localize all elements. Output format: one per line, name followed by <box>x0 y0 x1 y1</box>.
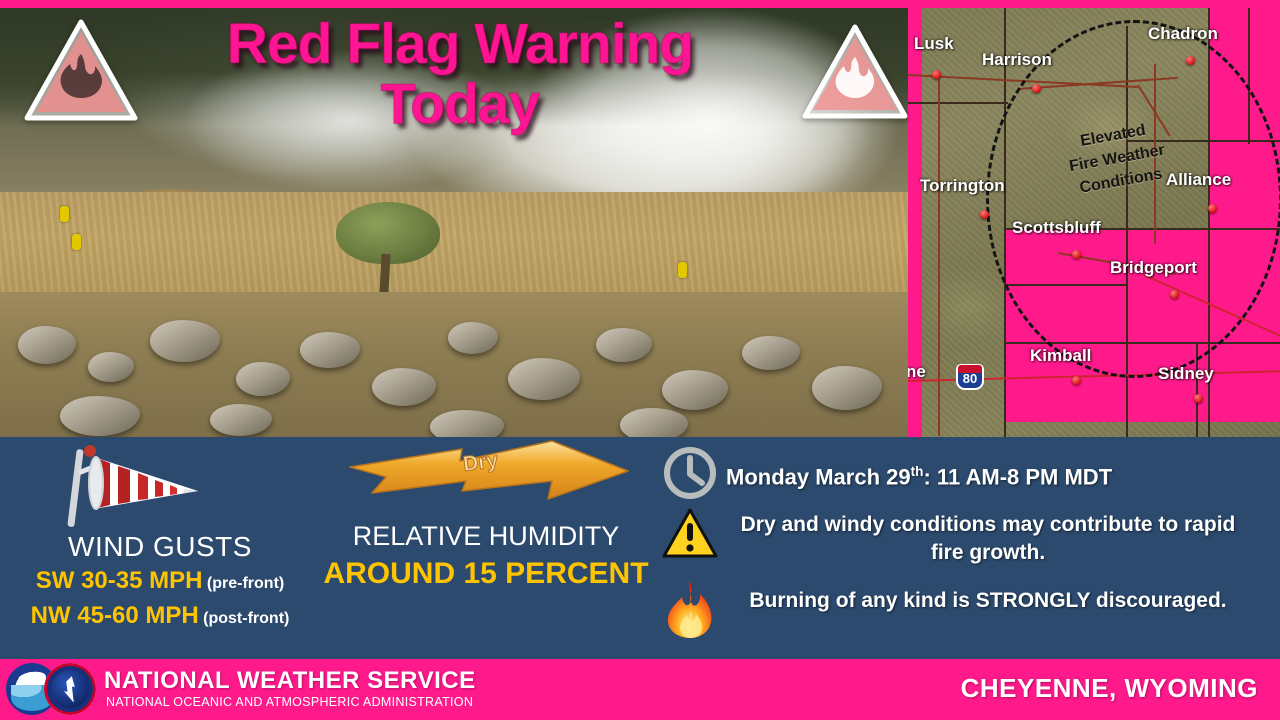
city-label-lusk: Lusk <box>914 34 954 54</box>
timing-message-row: Monday March 29th: 11 AM-8 PM MDT <box>654 445 1280 501</box>
relative-humidity-section: Dry RELATIVE HUMIDITY AROUND 15 PERCENT <box>318 437 654 659</box>
city-marker <box>1208 204 1217 213</box>
timing-message-text: Monday March 29th: 11 AM-8 PM MDT <box>726 445 1112 492</box>
wind-prefront-note: (pre-front) <box>207 575 284 592</box>
city-marker <box>932 70 941 79</box>
infographic-canvas: Red Flag Warning Today Elevate <box>0 0 1280 720</box>
dry-arrow-icon: Dry <box>342 437 632 505</box>
wind-line-prefront: SW 30-35 MPH (pre-front) <box>0 567 320 595</box>
clock-icon <box>654 445 726 501</box>
fire-hazard-triangle-icon <box>800 22 910 122</box>
wind-postfront-value: NW 45-60 MPH <box>31 602 199 629</box>
windsock-icon <box>48 443 248 529</box>
conditions-panel: WIND GUSTS SW 30-35 MPH (pre-front) NW 4… <box>0 437 1280 659</box>
photo-firefighter <box>678 262 687 278</box>
warning-triangle-icon <box>654 507 726 559</box>
page-title: Red Flag Warning Today <box>150 14 770 134</box>
office-name: CHEYENNE, WYOMING <box>961 673 1258 704</box>
city-label-chadron: Chadron <box>1148 24 1218 44</box>
city-label-torrington: Torrington <box>920 176 1005 196</box>
city-label-bridgeport: Bridgeport <box>1110 258 1197 278</box>
city-marker <box>1072 250 1081 259</box>
footer-bar: NOAA NATIONAL WEATHER SERVICE NATIONAL O… <box>0 659 1280 720</box>
warning-area-map[interactable]: Elevated Fire Weather Conditions Lusk Ha… <box>908 6 1280 437</box>
top-accent-strip <box>0 0 1280 8</box>
nws-logo-icon <box>44 663 96 715</box>
city-label-sidney: Sidney <box>1158 364 1214 384</box>
flame-icon <box>654 579 726 639</box>
dry-arrow-label: Dry <box>462 449 500 476</box>
photo-firefighter <box>60 206 69 222</box>
wind-line-postfront: NW 45-60 MPH (post-front) <box>0 602 320 630</box>
city-marker <box>1186 56 1195 65</box>
city-marker <box>1170 290 1179 299</box>
photo-rock-field <box>0 292 908 438</box>
relative-humidity-title: RELATIVE HUMIDITY <box>318 521 654 552</box>
interstate-80-shield-icon: 80 <box>956 364 984 390</box>
city-marker <box>1194 394 1203 403</box>
agency-subtitle: NATIONAL OCEANIC AND ATMOSPHERIC ADMINIS… <box>106 695 473 709</box>
city-label-harrison: Harrison <box>982 50 1052 70</box>
fire-hazard-triangle-icon <box>22 16 140 124</box>
title-line-1: Red Flag Warning <box>150 14 770 74</box>
city-marker <box>980 210 989 219</box>
fire-growth-message-row: Dry and windy conditions may contribute … <box>654 507 1280 567</box>
title-line-2: Today <box>150 74 770 134</box>
agency-name: NATIONAL WEATHER SERVICE <box>104 667 476 695</box>
burning-message-text: Burning of any kind is STRONGLY discoura… <box>726 579 1250 615</box>
timing-post: : 11 AM-8 PM MDT <box>923 464 1112 489</box>
photo-firefighter <box>72 234 81 250</box>
wind-prefront-value: SW 30-35 MPH <box>36 567 203 594</box>
wind-gusts-section: WIND GUSTS SW 30-35 MPH (pre-front) NW 4… <box>0 437 320 659</box>
city-marker <box>1032 84 1041 93</box>
burning-message-row: Burning of any kind is STRONGLY discoura… <box>654 579 1280 639</box>
city-label-scottsbluff: Scottsbluff <box>1012 218 1101 238</box>
city-label-cheyenne-partial: ne <box>908 362 926 382</box>
city-marker <box>1072 376 1081 385</box>
elevated-fire-weather-outline <box>986 20 1280 378</box>
city-label-alliance: Alliance <box>1166 170 1231 190</box>
timing-pre: Monday March 29 <box>726 464 911 489</box>
wind-postfront-note: (post-front) <box>203 610 289 627</box>
wind-gusts-title: WIND GUSTS <box>0 531 320 563</box>
messages-section: Monday March 29th: 11 AM-8 PM MDT Dry an… <box>654 437 1280 659</box>
fire-growth-message-text: Dry and windy conditions may contribute … <box>726 507 1250 567</box>
city-label-kimball: Kimball <box>1030 346 1091 366</box>
timing-ordinal: th <box>911 464 924 479</box>
relative-humidity-value: AROUND 15 PERCENT <box>318 557 654 591</box>
